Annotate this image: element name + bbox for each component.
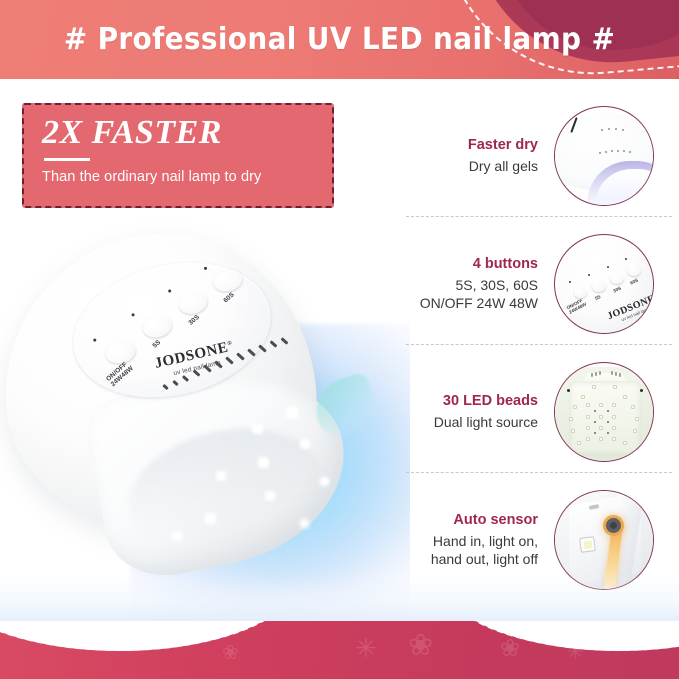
flower-decoration: ❀ — [408, 631, 433, 661]
timer-30s-label: 30S — [187, 314, 201, 327]
feature-divider — [406, 344, 672, 345]
feature-title: 30 LED beads — [404, 392, 538, 412]
promo-divider — [44, 158, 90, 161]
timer-5s-label: 5S — [151, 339, 162, 350]
power-led-indicator — [93, 338, 97, 342]
feature-line: 5S, 30S, 60S — [404, 276, 538, 294]
timer-60s-button[interactable] — [211, 267, 244, 294]
control-panel-icon: ON/OFF24W48W 5S 30S 60S JODSONE® uv led … — [554, 234, 654, 334]
feature-title: 4 buttons — [404, 255, 538, 275]
feature-text: 4 buttons 5S, 30S, 60S ON/OFF 24W 48W — [404, 255, 554, 313]
feature-line: Hand in, light on, — [404, 532, 538, 550]
timer-5s-indicator — [131, 313, 135, 317]
lamp-glow-icon — [554, 106, 654, 206]
feature-item-faster-dry: Faster dry Dry all gels — [400, 92, 679, 220]
flower-decoration: ❀ — [222, 643, 239, 663]
promo-headline: 2X FASTER — [42, 115, 314, 151]
timer-30s-button[interactable] — [176, 290, 209, 317]
timer-60s-label: 60S — [222, 291, 236, 304]
feature-divider — [406, 472, 672, 473]
feature-title: Faster dry — [404, 136, 538, 156]
feature-text: 30 LED beads Dual light source — [404, 392, 554, 431]
feature-list: Faster dry Dry all gels — [400, 92, 679, 637]
page-title: # Professional UV LED nail lamp # — [24, 0, 655, 79]
feature-line: hand out, light off — [404, 550, 538, 568]
flower-decoration: ❀ — [500, 637, 520, 661]
promo-box: 2X FASTER Than the ordinary nail lamp to… — [22, 103, 334, 208]
feature-item-auto-sensor: Auto sensor Hand in, light on, hand out,… — [400, 476, 679, 604]
feature-line: Dual light source — [404, 413, 538, 431]
power-button[interactable] — [104, 338, 138, 366]
trademark-symbol: ® — [227, 340, 233, 347]
footer-dashed-curve-left — [0, 621, 300, 651]
footer-dashed-curve-right — [439, 621, 679, 651]
timer-30s-indicator — [168, 289, 172, 293]
flower-decoration: ✳ — [355, 635, 377, 661]
footer-band: ✳ ❀ ❀ ✳ ❀ — [0, 621, 679, 679]
feature-title: Auto sensor — [404, 511, 538, 531]
power-button-label: ON/OFF 24W48W — [105, 360, 135, 389]
promo-subtitle: Than the ordinary nail lamp to dry — [42, 169, 314, 185]
feature-line: ON/OFF 24W 48W — [404, 294, 538, 312]
flower-decoration: ✳ — [566, 641, 584, 663]
feature-text: Faster dry Dry all gels — [404, 136, 554, 175]
timer-5s-button[interactable] — [141, 313, 174, 340]
feature-text: Auto sensor Hand in, light on, hand out,… — [404, 511, 554, 569]
feature-item-buttons: 4 buttons 5S, 30S, 60S ON/OFF 24W 48W ON… — [400, 220, 679, 348]
led-array-icon — [554, 362, 654, 462]
feature-line: Dry all gels — [404, 157, 538, 175]
motion-sensor-icon — [554, 490, 654, 590]
feature-item-led-beads: 30 LED beads Dual light source — [400, 348, 679, 476]
product-infographic: # Professional UV LED nail lamp # 2X FAS… — [0, 0, 679, 679]
feature-divider — [406, 216, 672, 217]
timer-60s-indicator — [204, 267, 208, 271]
